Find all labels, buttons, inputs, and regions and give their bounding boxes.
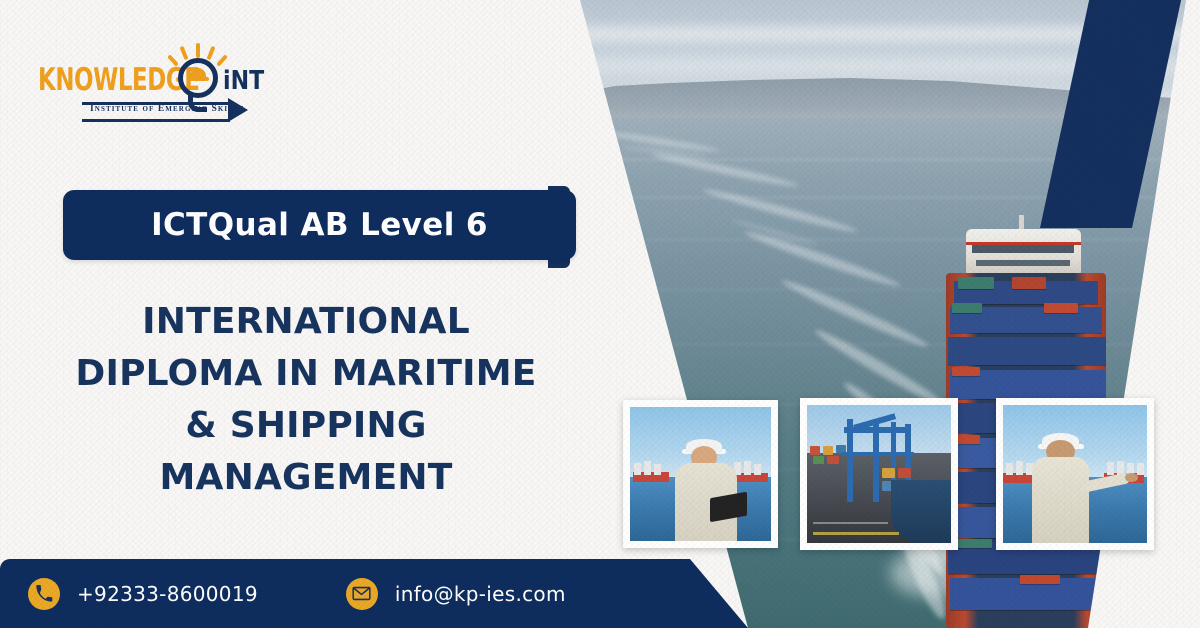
logo-rule-bottom [82, 119, 230, 122]
thumbnail-supervisor-pointing [996, 398, 1154, 550]
thumbnail-port-cranes [800, 398, 958, 550]
course-title-line-4: MANAGEMENT [46, 452, 566, 504]
email-address: info@kp-ies.com [395, 582, 566, 606]
lightbulb-icon [170, 48, 226, 110]
course-title-line-2: DIPLOMA IN MARITIME [46, 348, 566, 400]
phone-number: +92333-8600019 [77, 582, 258, 606]
logo-wordmark-suffix: iNT [223, 66, 264, 96]
qualification-badge: ICTQual AB Level 6 [63, 190, 576, 260]
poster-canvas: KNOWLEDGE iNT Institute of Emerging Skil… [0, 0, 1200, 628]
brand-logo[interactable]: KNOWLEDGE iNT Institute of Emerging Skil… [30, 26, 270, 118]
contact-footer-bar: +92333-8600019 info@kp-ies.com [0, 559, 748, 628]
hardhat-icon [187, 68, 209, 82]
qualification-badge-label: ICTQual AB Level 6 [151, 207, 488, 243]
course-title-line-3: & SHIPPING [46, 400, 566, 452]
course-title-line-1: INTERNATIONAL [46, 296, 566, 348]
envelope-icon [346, 578, 378, 610]
phone-icon [28, 578, 60, 610]
contact-email[interactable]: info@kp-ies.com [346, 578, 566, 610]
contact-phone[interactable]: +92333-8600019 [28, 578, 258, 610]
thumbnail-engineer-with-laptop [623, 400, 778, 548]
logo-tagline: Institute of Emerging Skills [90, 104, 245, 114]
course-title: INTERNATIONAL DIPLOMA IN MARITIME & SHIP… [46, 296, 566, 504]
